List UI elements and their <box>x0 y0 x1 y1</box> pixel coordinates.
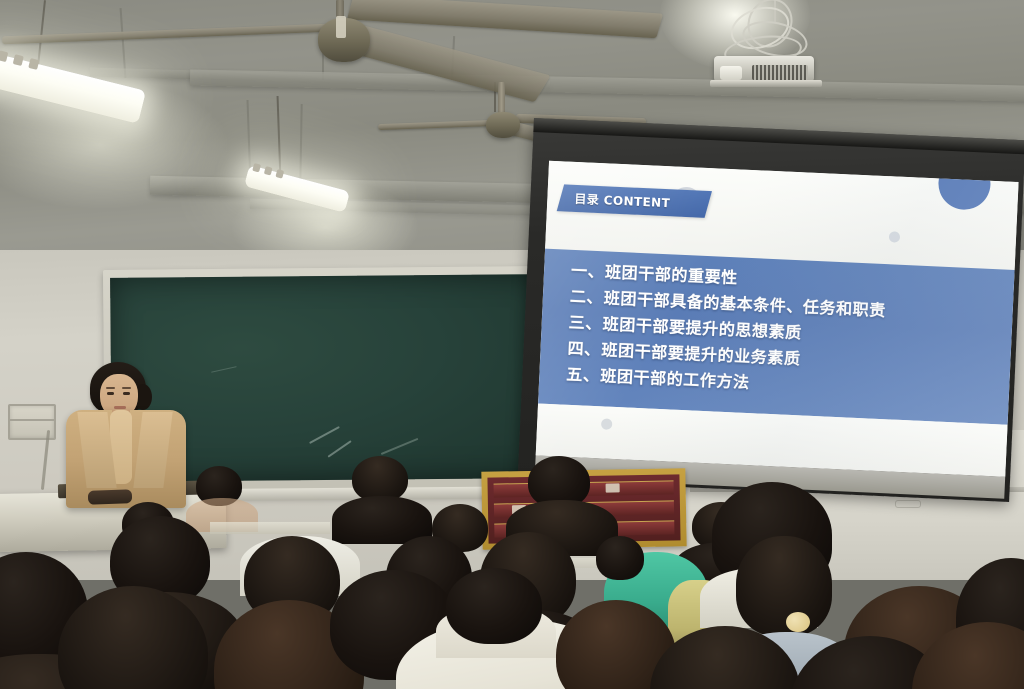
projector-body <box>714 56 814 82</box>
ceiling-crack <box>299 104 302 184</box>
projection-screen: 目录 CONTENT 一、 班团干部的重要性 二、 班团干部具备的基本条件、任务… <box>536 161 1019 477</box>
fan-cap <box>336 16 346 38</box>
projector-lens <box>720 66 742 80</box>
hair-scrunchie <box>786 612 810 632</box>
slide-section-tag-label: 目录 CONTENT <box>574 190 671 211</box>
presenter-eye <box>123 392 130 395</box>
decorative-circle-blue-icon <box>937 161 991 211</box>
toc-item-number: 四、 <box>567 336 602 364</box>
decorative-circle-icon <box>889 231 900 242</box>
presenter-eyebrow <box>122 387 131 389</box>
presenter-eyebrow <box>106 387 115 389</box>
presenter-eye <box>107 392 114 395</box>
classroom-photo: 目录 CONTENT 一、 班团干部的重要性 二、 班团干部具备的基本条件、任务… <box>0 0 1024 689</box>
toc-item-number: 二、 <box>569 284 604 312</box>
student-head <box>736 536 832 636</box>
toc-item-number: 三、 <box>568 310 603 338</box>
slide-toc-list: 一、 班团干部的重要性 二、 班团干部具备的基本条件、任务和职责 三、 班团干部… <box>566 258 1001 407</box>
audience <box>0 440 1024 689</box>
chalk-mark <box>211 366 237 373</box>
presentation-slide: 目录 CONTENT 一、 班团干部的重要性 二、 班团干部具备的基本条件、任务… <box>536 161 1019 477</box>
presenter-mouth <box>114 406 126 409</box>
toc-item-number: 五、 <box>566 362 601 390</box>
student-head <box>446 568 542 644</box>
decorative-circle-icon <box>601 418 612 429</box>
ceiling-projector <box>714 52 822 90</box>
projector-vent <box>752 65 808 80</box>
fan-rod <box>498 82 505 114</box>
toc-item-number: 一、 <box>571 258 606 286</box>
fan-motor-housing <box>486 112 520 138</box>
bench-edge <box>210 522 330 534</box>
student-head <box>596 536 644 580</box>
projector-plate <box>710 80 822 87</box>
